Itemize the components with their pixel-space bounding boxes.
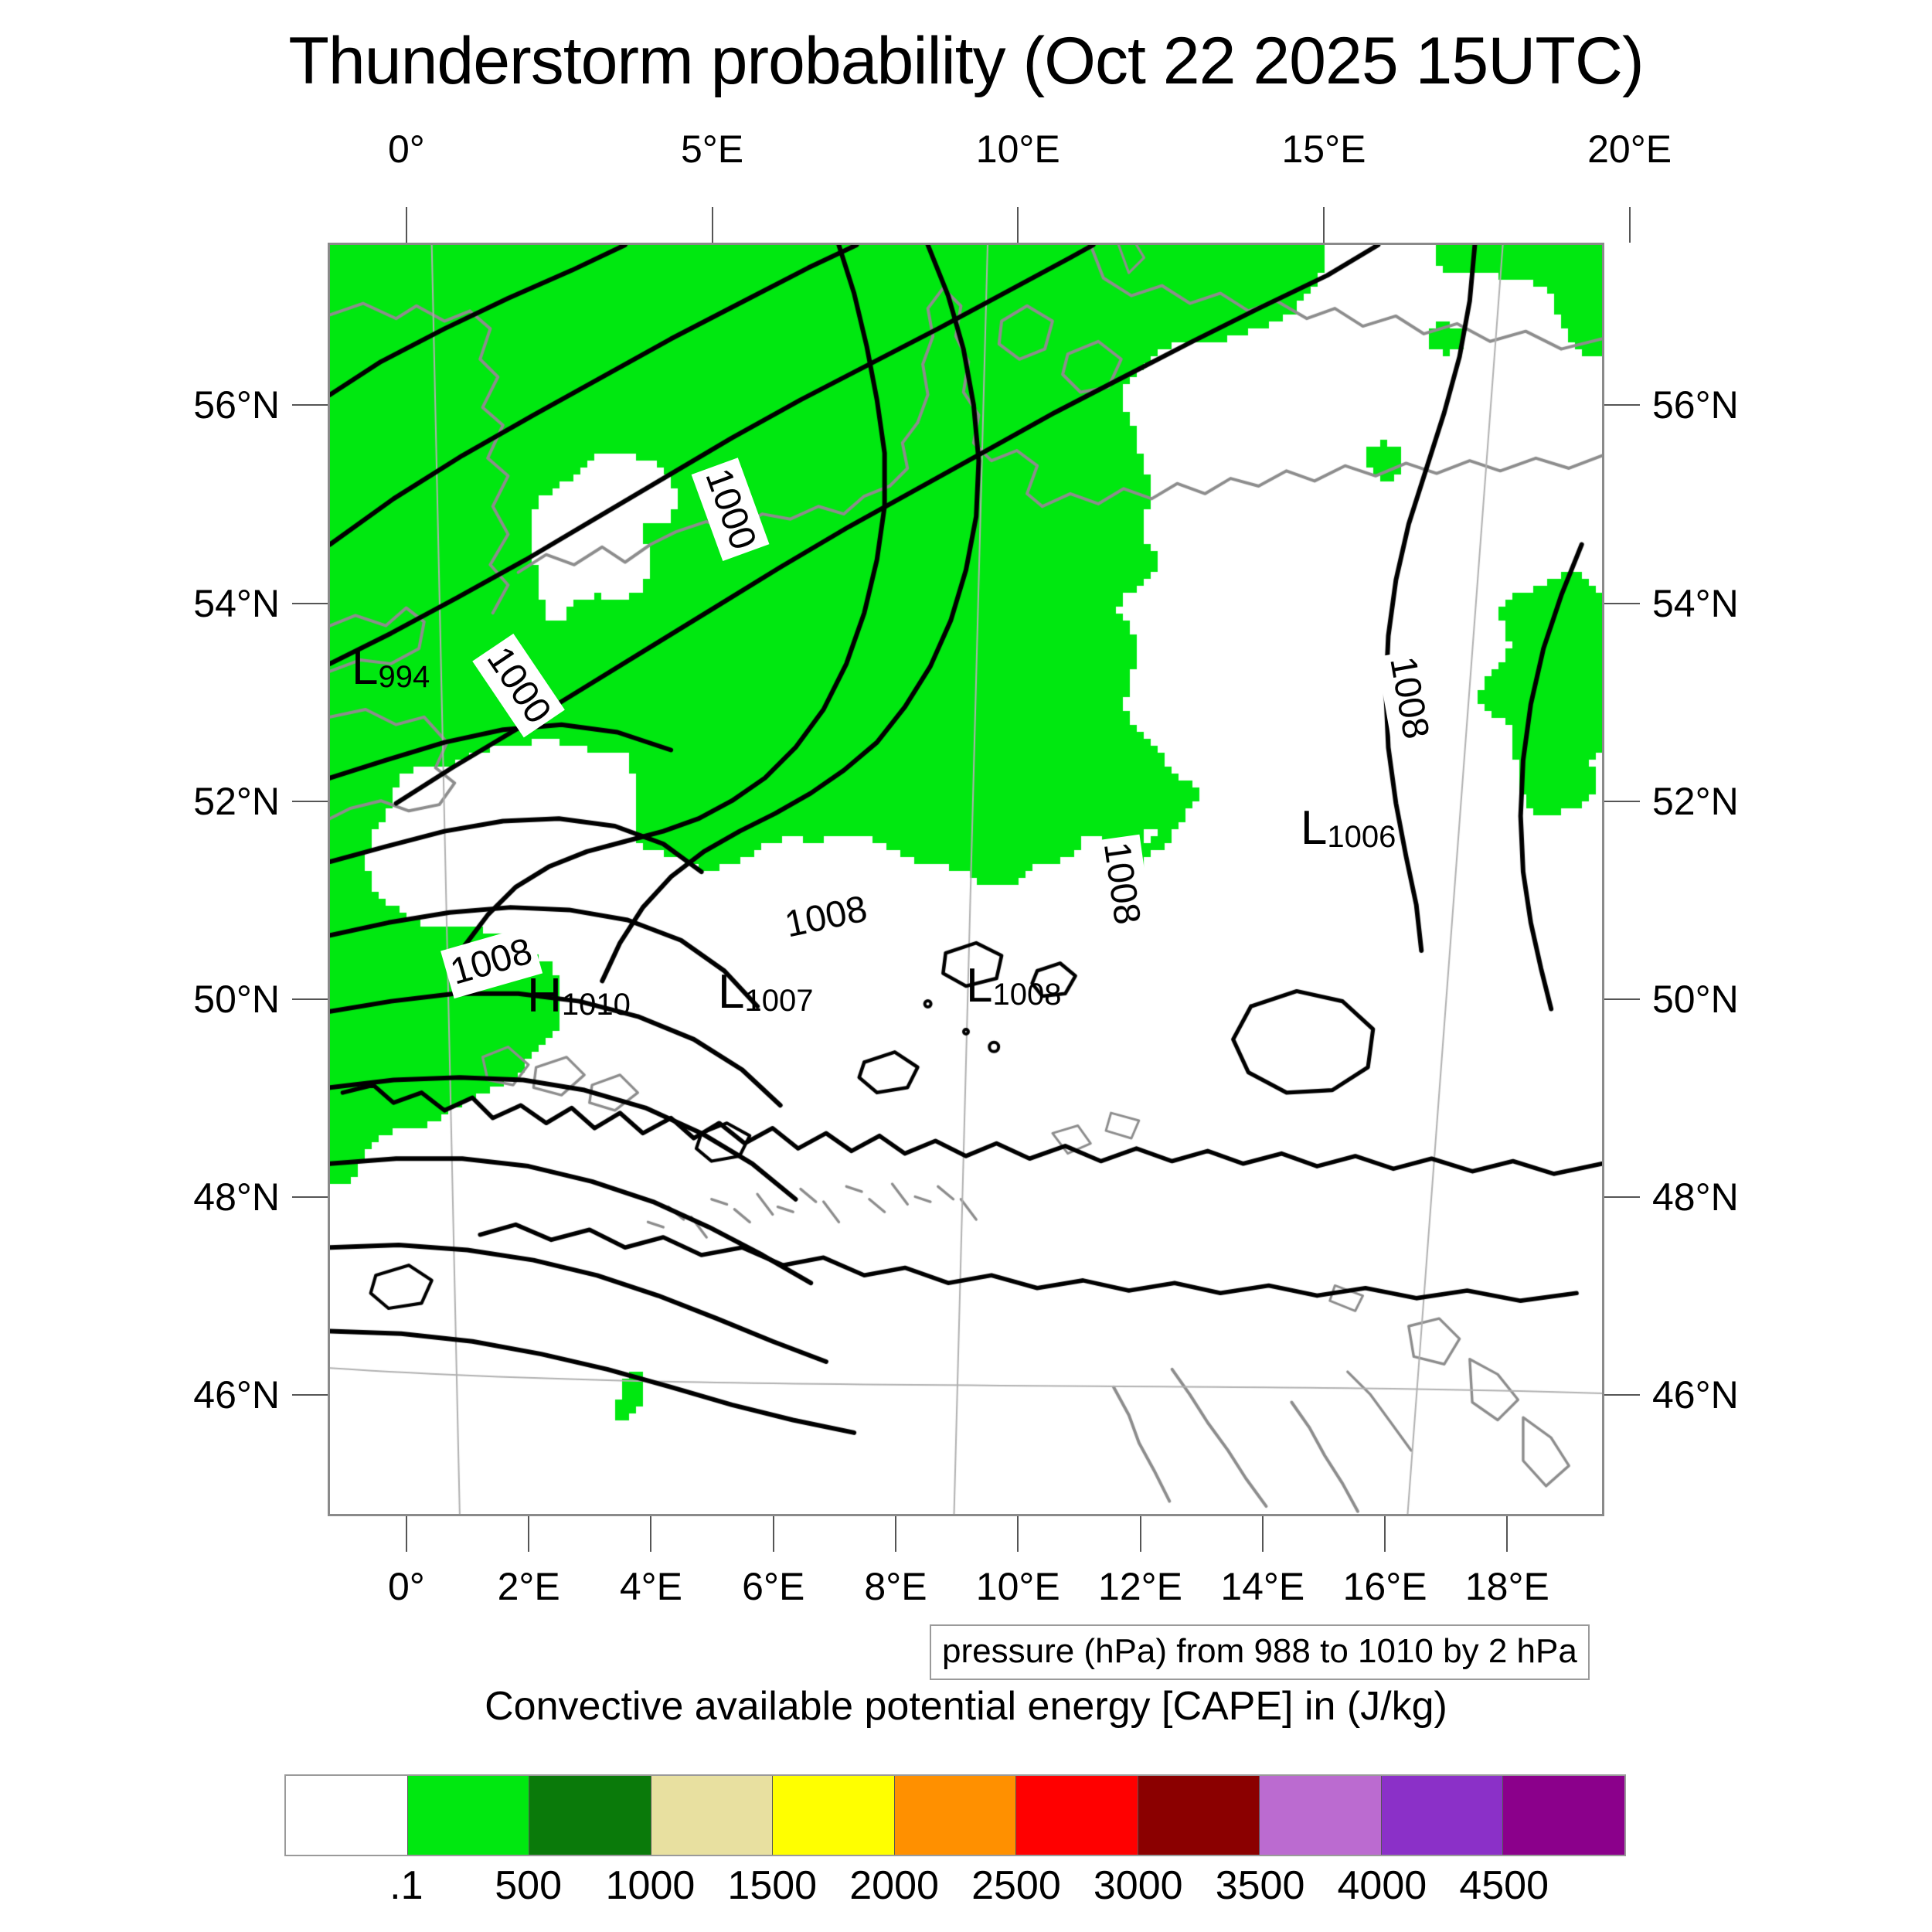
colorbar-tick-label: 4000 [1338, 1862, 1427, 1909]
colorbar-swatch[interactable] [894, 1776, 1016, 1855]
colorbar-tick-label: 2500 [971, 1862, 1061, 1909]
axis-label-lon-bottom: 18°E [1465, 1564, 1549, 1609]
tick-top [712, 207, 713, 243]
tick-left [292, 998, 328, 1000]
cape-field-canvas [330, 245, 1602, 1514]
colorbar-tick-label: 1000 [606, 1862, 696, 1909]
colorbar-tick-label: 4500 [1459, 1862, 1549, 1909]
axis-label-lat-left: 48°N [193, 1175, 280, 1219]
colorbar-tick-label: .1 [389, 1862, 423, 1909]
colorbar-swatch[interactable] [1015, 1776, 1138, 1855]
axis-label-lat-left: 54°N [193, 581, 280, 626]
pressure-centre-high: H1010 [527, 968, 631, 1023]
colorbar-tick-label: 3000 [1094, 1862, 1183, 1909]
colorbar-swatch[interactable] [1381, 1776, 1503, 1855]
colorbar-tick-labels: .150010001500200025003000350040004500 [284, 1862, 1626, 1917]
axis-label-lon-bottom: 6°E [742, 1564, 804, 1609]
pressure-centre-low: L994 [352, 641, 430, 696]
axis-label-lat-left: 52°N [193, 779, 280, 824]
tick-left [292, 801, 328, 802]
axis-label-lon-top: 5°E [681, 127, 743, 172]
thunderstorm-probability-map: Thunderstorm probability (Oct 22 2025 15… [0, 0, 1932, 1932]
axis-label-lat-right: 50°N [1652, 977, 1739, 1022]
tick-bottom [1506, 1516, 1508, 1552]
axis-label-lon-top: 0° [388, 127, 425, 172]
axis-label-lat-right: 48°N [1652, 1175, 1739, 1219]
axis-label-lat-left: 50°N [193, 977, 280, 1022]
colorbar-tick-label: 1500 [727, 1862, 817, 1909]
tick-left [292, 1196, 328, 1198]
axis-label-lat-left: 46°N [193, 1372, 280, 1417]
colorbar-swatch[interactable] [286, 1776, 407, 1855]
colorbar-swatch[interactable] [1138, 1776, 1260, 1855]
colorbar-swatch[interactable] [772, 1776, 894, 1855]
tick-bottom [773, 1516, 774, 1552]
tick-bottom [895, 1516, 896, 1552]
colorbar[interactable] [284, 1774, 1626, 1856]
axis-label-lat-right: 54°N [1652, 581, 1739, 626]
colorbar-title: Convective available potential energy [C… [0, 1683, 1932, 1730]
tick-bottom [650, 1516, 651, 1552]
axis-label-lon-top: 15°E [1281, 127, 1366, 172]
tick-top [406, 207, 407, 243]
axis-label-lon-bottom: 16°E [1343, 1564, 1427, 1609]
axis-label-lon-top: 10°E [976, 127, 1060, 172]
colorbar-swatch[interactable] [1259, 1776, 1381, 1855]
axis-label-lat-right: 46°N [1652, 1372, 1739, 1417]
tick-bottom [528, 1516, 529, 1552]
colorbar-swatch[interactable] [407, 1776, 529, 1855]
pressure-centre-low: L1006 [1301, 801, 1396, 855]
axis-label-lon-top: 20°E [1587, 127, 1672, 172]
axis-label-lon-bottom: 2°E [498, 1564, 560, 1609]
axis-label-lon-bottom: 0° [388, 1564, 425, 1609]
tick-right [1604, 801, 1640, 802]
pressure-centre-low: L1008 [966, 958, 1061, 1013]
axis-label-lon-bottom: 12°E [1098, 1564, 1182, 1609]
tick-top [1629, 207, 1631, 243]
tick-bottom [1262, 1516, 1264, 1552]
tick-bottom [1017, 1516, 1019, 1552]
tick-left [292, 603, 328, 604]
tick-left [292, 1394, 328, 1396]
axis-label-lon-bottom: 10°E [976, 1564, 1060, 1609]
pressure-centre-low: L1007 [718, 964, 813, 1019]
colorbar-swatch[interactable] [1502, 1776, 1624, 1855]
axis-label-lat-left: 56°N [193, 383, 280, 427]
tick-right [1604, 1394, 1640, 1396]
axis-label-lat-right: 56°N [1652, 383, 1739, 427]
colorbar-tick-label: 500 [495, 1862, 562, 1909]
colorbar-tick-label: 2000 [849, 1862, 939, 1909]
tick-right [1604, 998, 1640, 1000]
tick-right [1604, 1196, 1640, 1198]
page-title: Thunderstorm probability (Oct 22 2025 15… [0, 23, 1932, 100]
tick-top [1323, 207, 1325, 243]
axis-label-lon-bottom: 8°E [864, 1564, 927, 1609]
tick-right [1604, 404, 1640, 406]
colorbar-swatch[interactable] [651, 1776, 773, 1855]
colorbar-swatch[interactable] [529, 1776, 651, 1855]
tick-left [292, 404, 328, 406]
tick-bottom [1140, 1516, 1141, 1552]
tick-right [1604, 603, 1640, 604]
axis-label-lon-bottom: 4°E [620, 1564, 682, 1609]
colorbar-tick-label: 3500 [1216, 1862, 1305, 1909]
tick-bottom [1384, 1516, 1386, 1552]
tick-top [1017, 207, 1019, 243]
map-plot-area[interactable]: 100010001008100810081008L994L1006L1007L1… [328, 243, 1604, 1516]
axis-label-lon-bottom: 14°E [1220, 1564, 1304, 1609]
pressure-contour-note: pressure (hPa) from 988 to 1010 by 2 hPa [930, 1624, 1590, 1680]
axis-label-lat-right: 52°N [1652, 779, 1739, 824]
tick-bottom [406, 1516, 407, 1552]
